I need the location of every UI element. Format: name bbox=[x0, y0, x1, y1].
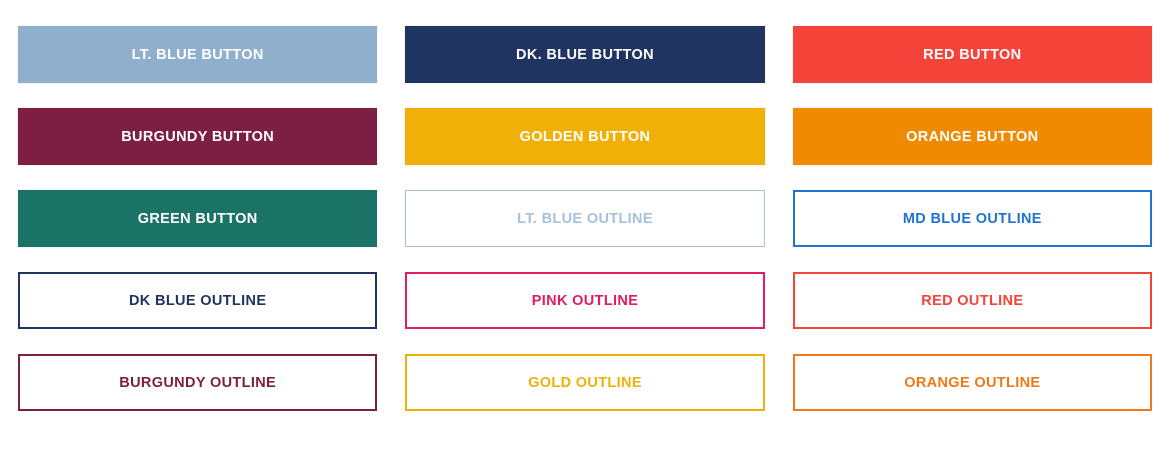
red-button[interactable]: RED BUTTON bbox=[793, 26, 1152, 83]
lt-blue-button-label: LT. BLUE BUTTON bbox=[132, 47, 264, 63]
lt-blue-outline-label: LT. BLUE OUTLINE bbox=[517, 211, 653, 227]
gold-outline-label: GOLD OUTLINE bbox=[528, 375, 642, 391]
green-button-label: GREEN BUTTON bbox=[138, 211, 258, 227]
dk-blue-button[interactable]: DK. BLUE BUTTON bbox=[405, 26, 764, 83]
md-blue-outline[interactable]: MD BLUE OUTLINE bbox=[793, 190, 1152, 247]
dk-blue-outline[interactable]: DK BLUE OUTLINE bbox=[18, 272, 377, 329]
red-button-label: RED BUTTON bbox=[923, 47, 1021, 63]
lt-blue-button[interactable]: LT. BLUE BUTTON bbox=[18, 26, 377, 83]
burgundy-button[interactable]: BURGUNDY BUTTON bbox=[18, 108, 377, 165]
red-outline-label: RED OUTLINE bbox=[921, 293, 1023, 309]
gold-outline[interactable]: GOLD OUTLINE bbox=[405, 354, 764, 411]
red-outline[interactable]: RED OUTLINE bbox=[793, 272, 1152, 329]
dk-blue-button-label: DK. BLUE BUTTON bbox=[516, 47, 654, 63]
button-gallery-grid: LT. BLUE BUTTONDK. BLUE BUTTONRED BUTTON… bbox=[0, 0, 1170, 450]
dk-blue-outline-label: DK BLUE OUTLINE bbox=[129, 293, 266, 309]
green-button[interactable]: GREEN BUTTON bbox=[18, 190, 377, 247]
orange-outline-label: ORANGE OUTLINE bbox=[904, 375, 1040, 391]
orange-outline[interactable]: ORANGE OUTLINE bbox=[793, 354, 1152, 411]
lt-blue-outline[interactable]: LT. BLUE OUTLINE bbox=[405, 190, 764, 247]
golden-button[interactable]: GOLDEN BUTTON bbox=[405, 108, 764, 165]
orange-button[interactable]: ORANGE BUTTON bbox=[793, 108, 1152, 165]
burgundy-button-label: BURGUNDY BUTTON bbox=[121, 129, 274, 145]
burgundy-outline[interactable]: BURGUNDY OUTLINE bbox=[18, 354, 377, 411]
pink-outline[interactable]: PINK OUTLINE bbox=[405, 272, 764, 329]
pink-outline-label: PINK OUTLINE bbox=[532, 293, 639, 309]
golden-button-label: GOLDEN BUTTON bbox=[520, 129, 651, 145]
md-blue-outline-label: MD BLUE OUTLINE bbox=[903, 211, 1042, 227]
orange-button-label: ORANGE BUTTON bbox=[906, 129, 1038, 145]
burgundy-outline-label: BURGUNDY OUTLINE bbox=[119, 375, 276, 391]
